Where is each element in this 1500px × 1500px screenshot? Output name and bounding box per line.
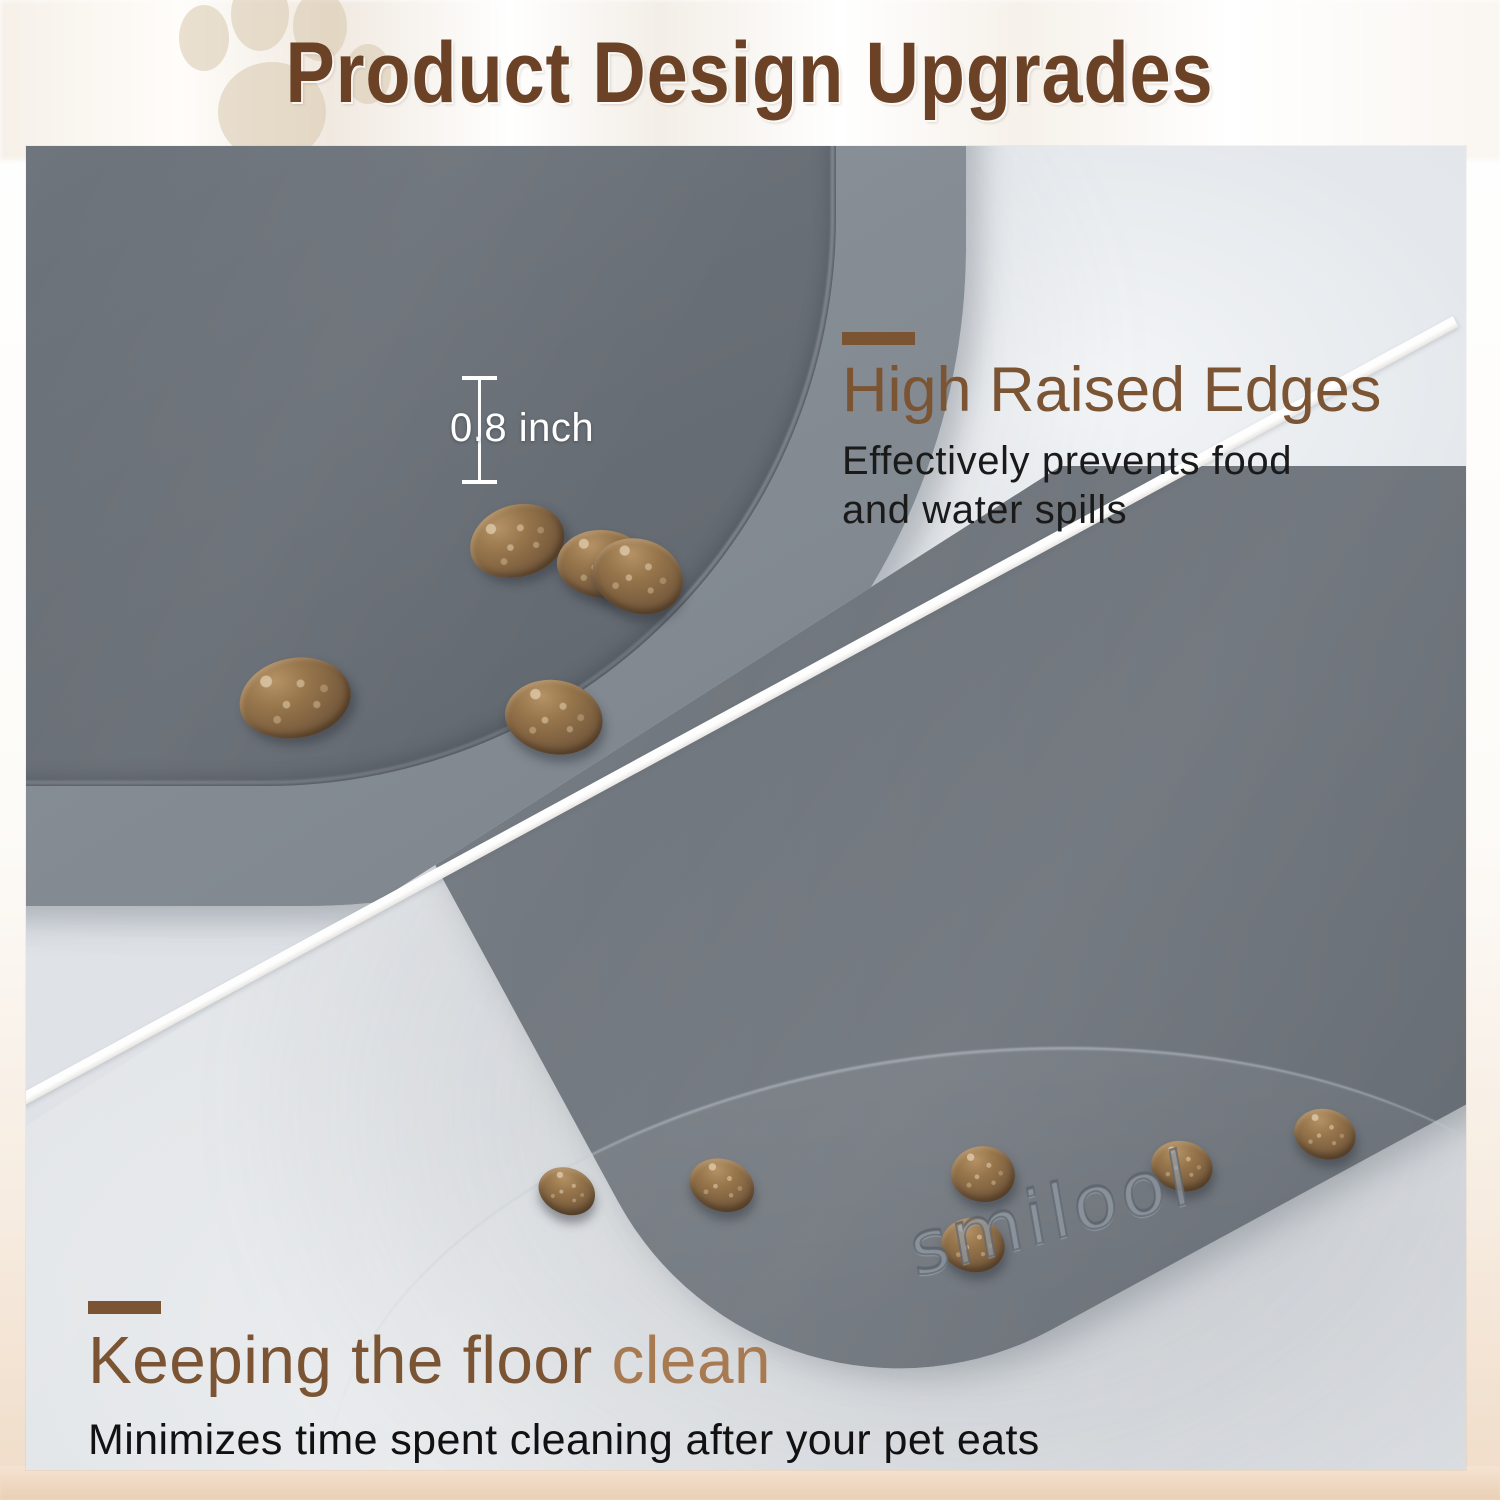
callout-body: Minimizes time spent cleaning after your… (88, 1416, 1268, 1465)
callout-body-line-2: and water spills (842, 486, 1466, 535)
callout-heading: Keeping the floor clean (88, 1326, 1244, 1396)
background-blur-bottom (0, 1466, 1500, 1500)
callout-heading-light: clean (612, 1323, 771, 1398)
accent-bar-icon (88, 1301, 161, 1314)
accent-bar-icon (842, 332, 915, 345)
callout-heading-dark: Keeping the floor (88, 1323, 612, 1398)
dimension-label: 0.8 inch (450, 406, 594, 451)
callout-high-raised-edges: High Raised Edges Effectively prevents f… (842, 332, 1466, 535)
callout-heading: High Raised Edges (842, 357, 1466, 423)
callout-body-line-1: Effectively prevents food (842, 437, 1466, 486)
product-feature-graphic: Product Design Upgrades smilool (0, 0, 1500, 1500)
callout-body: Effectively prevents food and water spil… (842, 437, 1466, 535)
dimension-annotation: 0.8 inch (436, 360, 636, 490)
header-banner: Product Design Upgrades (0, 0, 1500, 146)
dimension-cap-bottom (462, 480, 497, 484)
callout-keeping-floor-clean: Keeping the floor clean Minimizes time s… (88, 1301, 1268, 1465)
product-photo-panel: smilool 0.8 inch High Raised Edges Effec… (26, 146, 1466, 1470)
page-title: Product Design Upgrades (286, 24, 1214, 123)
